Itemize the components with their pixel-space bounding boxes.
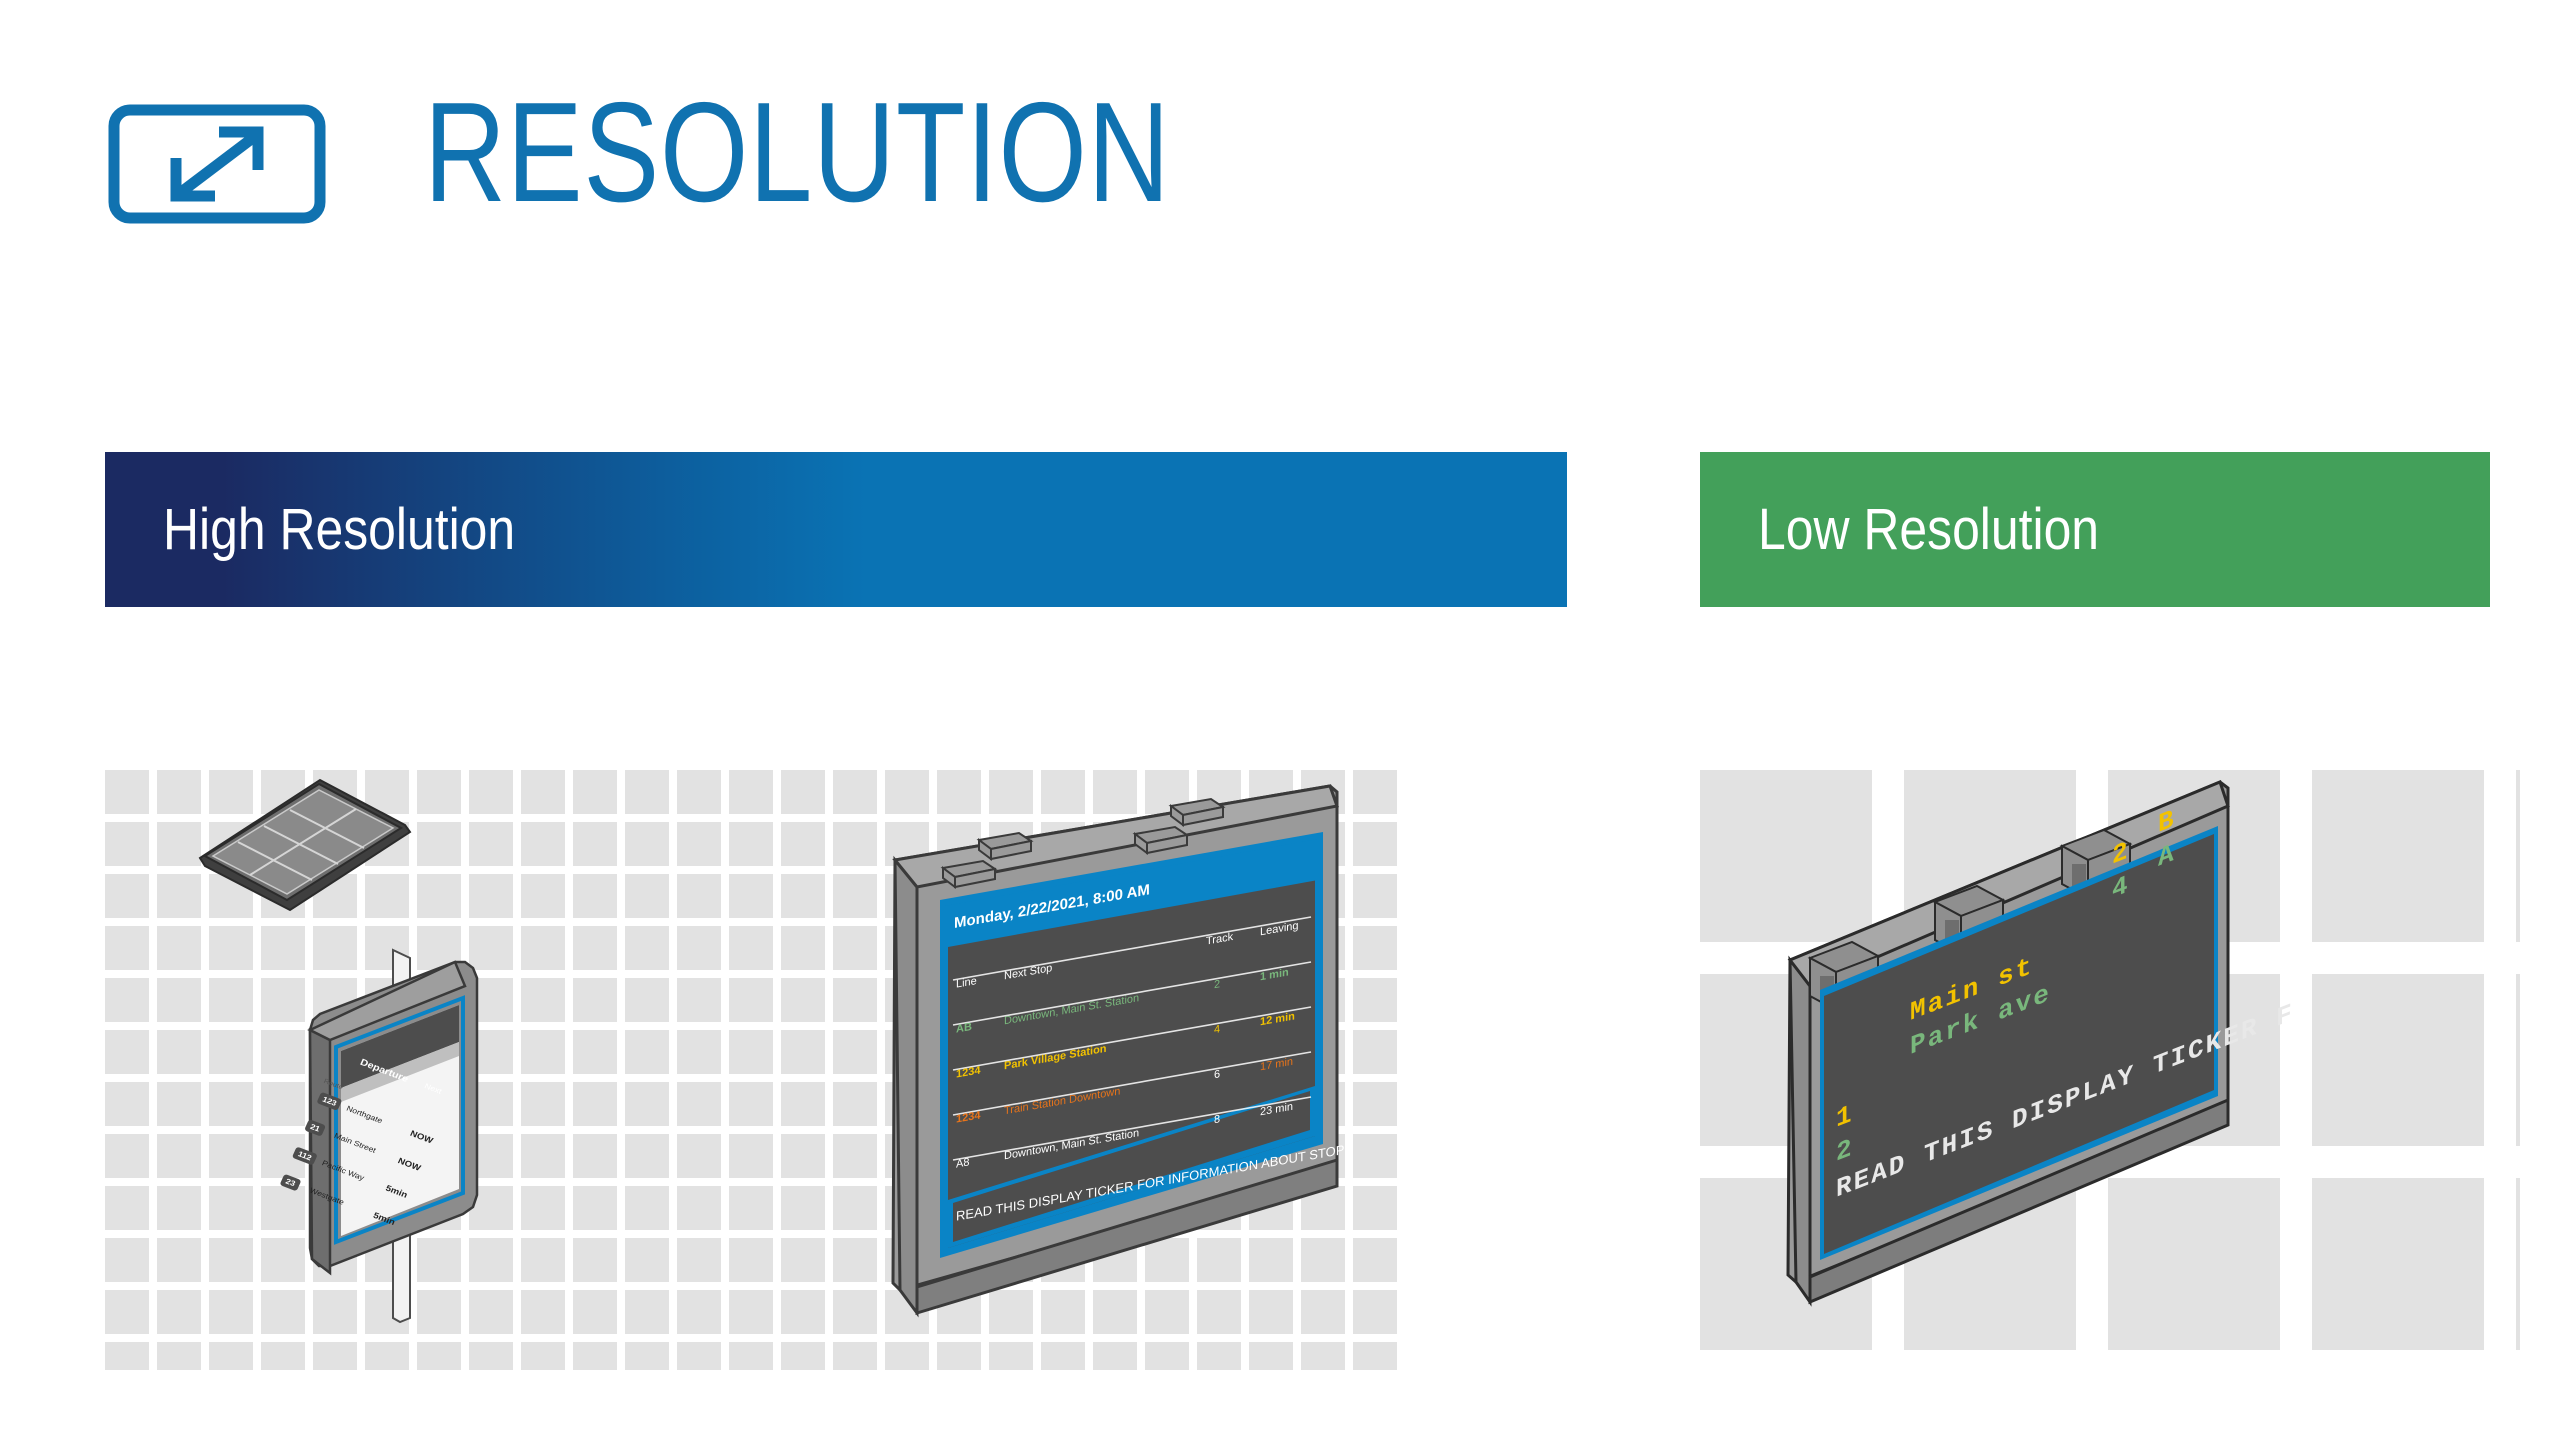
board-line: 1234 <box>956 1109 980 1125</box>
board-next-stop: Park Village Station <box>1004 1043 1107 1073</box>
led-track: 4 <box>2112 869 2130 906</box>
section-header-low-resolution: Low Resolution <box>1700 452 2490 607</box>
board-track: 4 <box>1214 1023 1220 1036</box>
board-screen-text: Monday, 2/22/2021, 8:00 AM Line Next Sto… <box>948 815 1328 1260</box>
board-leaving: 1 min <box>1260 966 1289 983</box>
board-track: 6 <box>1214 1068 1220 1081</box>
kiosk-row: 123 Northgate NOW <box>321 1092 441 1138</box>
board-leaving: 12 min <box>1260 1010 1295 1028</box>
board-col-leaving: Leaving <box>1260 920 1299 939</box>
board-col-next-stop: Next Stop <box>1004 962 1052 982</box>
kiosk-row: 23 Westgate 5min <box>285 1174 405 1220</box>
led-platform: B <box>2158 803 2176 840</box>
board-line: A8 <box>956 1156 969 1170</box>
page-title: RESOLUTION <box>424 82 1171 224</box>
board-leaving: 23 min <box>1260 1101 1293 1119</box>
page-header: RESOLUTION <box>0 0 2560 300</box>
kiosk-row: 21 Main Street NOW <box>309 1119 429 1165</box>
led-stop: Main st <box>1910 950 2033 1028</box>
kiosk-next: NOW <box>409 1128 435 1145</box>
led-track: 2 <box>2112 835 2130 872</box>
kiosk-departure: Westgate <box>308 1186 345 1206</box>
section-header-high-resolution: High Resolution <box>105 452 1567 607</box>
led-line: 2 <box>1836 1132 1854 1169</box>
kiosk-departure: Pacific Way <box>321 1159 366 1182</box>
board-next-stop: Downtown, Main St. Station <box>1004 1127 1139 1162</box>
kiosk-route-badge: 23 <box>280 1174 302 1192</box>
board-leaving: 17 min <box>1260 1056 1293 1074</box>
board-next-stop: Downtown, Main St. Station <box>1004 992 1139 1027</box>
board-datetime: Monday, 2/22/2021, 8:00 AM <box>954 881 1150 932</box>
high-resolution-illustration: Departure Next Route 123 Northgate NOW 2… <box>105 770 1405 1370</box>
kiosk-route-badge: 112 <box>292 1146 318 1165</box>
board-track: 8 <box>1214 1113 1220 1126</box>
kiosk-departure: Main Street <box>333 1131 377 1154</box>
led-platform: A <box>2158 837 2176 874</box>
board-col-line: Line <box>956 975 977 991</box>
kiosk-departure: Northgate <box>345 1104 384 1125</box>
kiosk-row: 112 Pacific Way 5min <box>297 1146 417 1192</box>
section-header-label-low: Low Resolution <box>1758 496 2099 563</box>
kiosk-route-badge: 21 <box>304 1119 326 1137</box>
board-next-stop: Train Station Downtown <box>1004 1085 1120 1117</box>
board-col-track: Track <box>1206 931 1233 948</box>
kiosk-next: NOW <box>396 1156 422 1173</box>
kiosk-route-badge: 123 <box>316 1092 342 1111</box>
low-resolution-illustration: 1 Main st 2 B 2 Park ave 4 A READ THIS D… <box>1700 770 2520 1370</box>
kiosk-next: 5min <box>384 1183 409 1200</box>
led-stop: Park ave <box>1910 978 2051 1063</box>
section-header-label-high: High Resolution <box>163 496 515 563</box>
led-line: 1 <box>1836 1098 1854 1135</box>
board-line: 1234 <box>956 1064 980 1080</box>
board-track: 2 <box>1214 978 1220 991</box>
board-line: AB <box>956 1021 972 1036</box>
resize-diagonal-icon <box>108 104 326 224</box>
kiosk-next: 5min <box>372 1210 397 1227</box>
